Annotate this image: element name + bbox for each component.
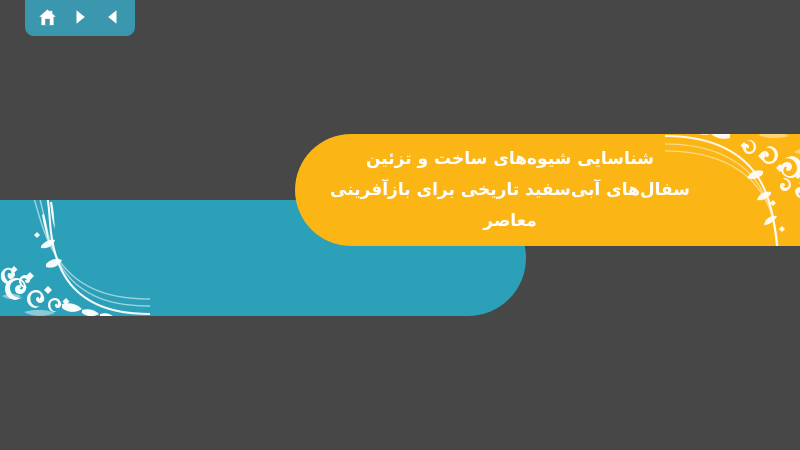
orange-ornament xyxy=(665,134,800,246)
triangle-left-icon xyxy=(104,8,122,26)
home-button[interactable] xyxy=(35,5,59,29)
teal-ornament xyxy=(0,200,150,316)
orange-banner xyxy=(295,134,800,246)
slide-canvas: شناسایی شیوه‌های ساخت و تزئین سفال‌های آ… xyxy=(0,0,800,450)
previous-button[interactable] xyxy=(101,5,125,29)
navigation-bar xyxy=(25,0,135,36)
triangle-right-icon xyxy=(71,8,89,26)
arabesque-ornament-icon xyxy=(665,134,800,246)
home-icon xyxy=(38,8,57,27)
arabesque-ornament-icon xyxy=(0,200,150,316)
next-button[interactable] xyxy=(68,5,92,29)
